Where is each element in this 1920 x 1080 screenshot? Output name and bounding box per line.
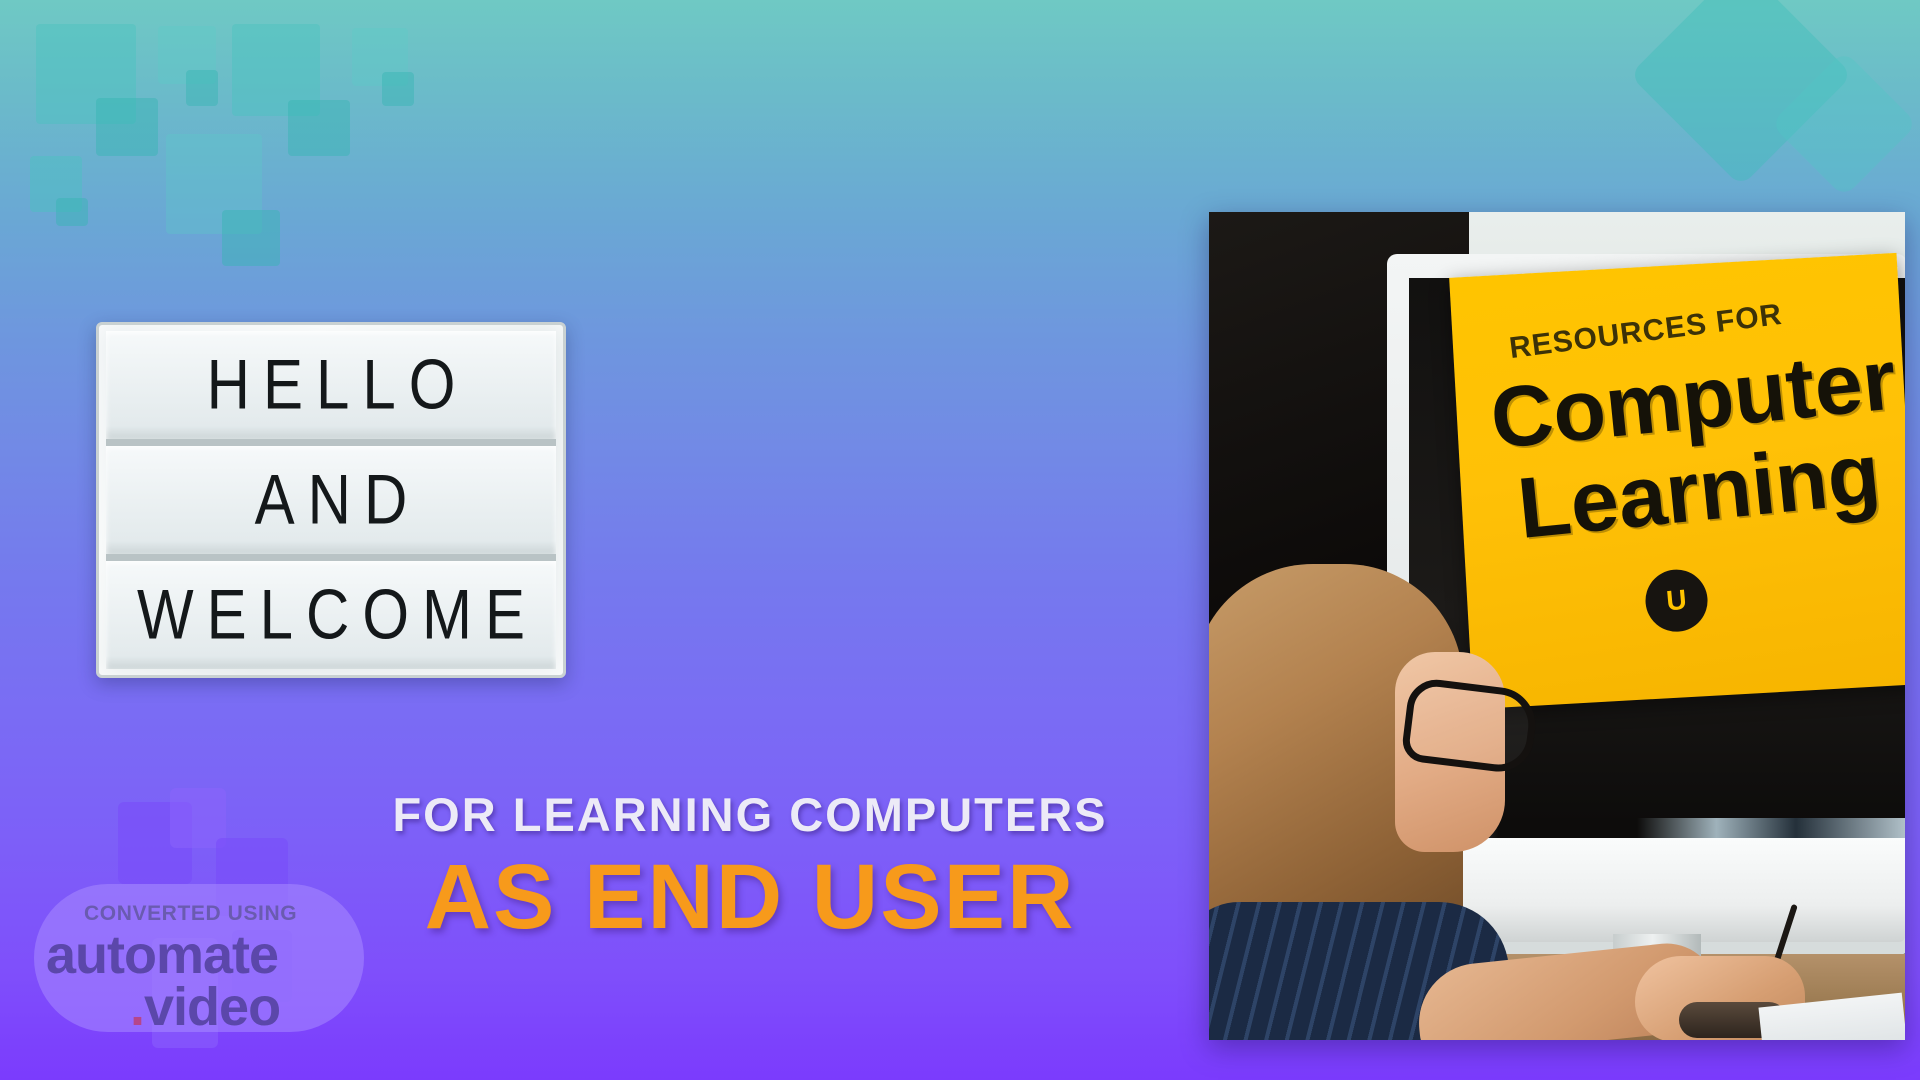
decor-square xyxy=(96,98,158,156)
decor-square xyxy=(118,802,192,884)
watermark-dot: . xyxy=(130,977,144,1032)
decor-diamond xyxy=(1770,50,1917,197)
decor-square xyxy=(352,28,408,86)
sign-row: HELLO xyxy=(106,331,556,446)
decor-square xyxy=(382,72,414,106)
watermark-kicker: CONVERTED USING xyxy=(84,902,297,926)
sign-row-text: HELLO xyxy=(194,350,469,421)
decor-square xyxy=(56,198,88,226)
sign-row: WELCOME xyxy=(106,561,556,669)
hello-and-welcome-sign: HELLO AND WELCOME xyxy=(96,322,566,678)
watermark-tld-row: .video xyxy=(130,976,280,1032)
automate-video-watermark[interactable]: CONVERTED USING automate .video xyxy=(34,884,364,1032)
computer-learning-poster: RESOURCES FOR Computer Learning U xyxy=(1449,253,1905,709)
decor-square xyxy=(166,134,262,234)
sign-row-text: WELCOME xyxy=(124,580,538,651)
headline-subtitle: FOR LEARNING COMPUTERS xyxy=(330,790,1170,839)
decor-square xyxy=(170,788,226,848)
decor-square xyxy=(30,156,82,212)
decor-square xyxy=(36,24,136,124)
decor-square xyxy=(222,210,280,266)
decor-diamond xyxy=(1629,0,1852,187)
headline-block: FOR LEARNING COMPUTERS AS END USER xyxy=(330,790,1170,945)
headline-title: AS END USER xyxy=(330,851,1170,945)
decor-square xyxy=(288,100,350,156)
child-at-computer-photo: RESOURCES FOR Computer Learning U xyxy=(1209,212,1905,1040)
sign-row: AND xyxy=(106,446,556,561)
decor-square xyxy=(158,26,216,84)
decor-square xyxy=(232,24,320,116)
watermark-tld: video xyxy=(144,977,280,1032)
presentation-slide: HELLO AND WELCOME FOR LEARNING COMPUTERS… xyxy=(0,0,1920,1080)
sign-row-text: AND xyxy=(242,465,421,536)
poster-logo-badge: U xyxy=(1643,567,1710,634)
decor-square xyxy=(186,70,218,106)
